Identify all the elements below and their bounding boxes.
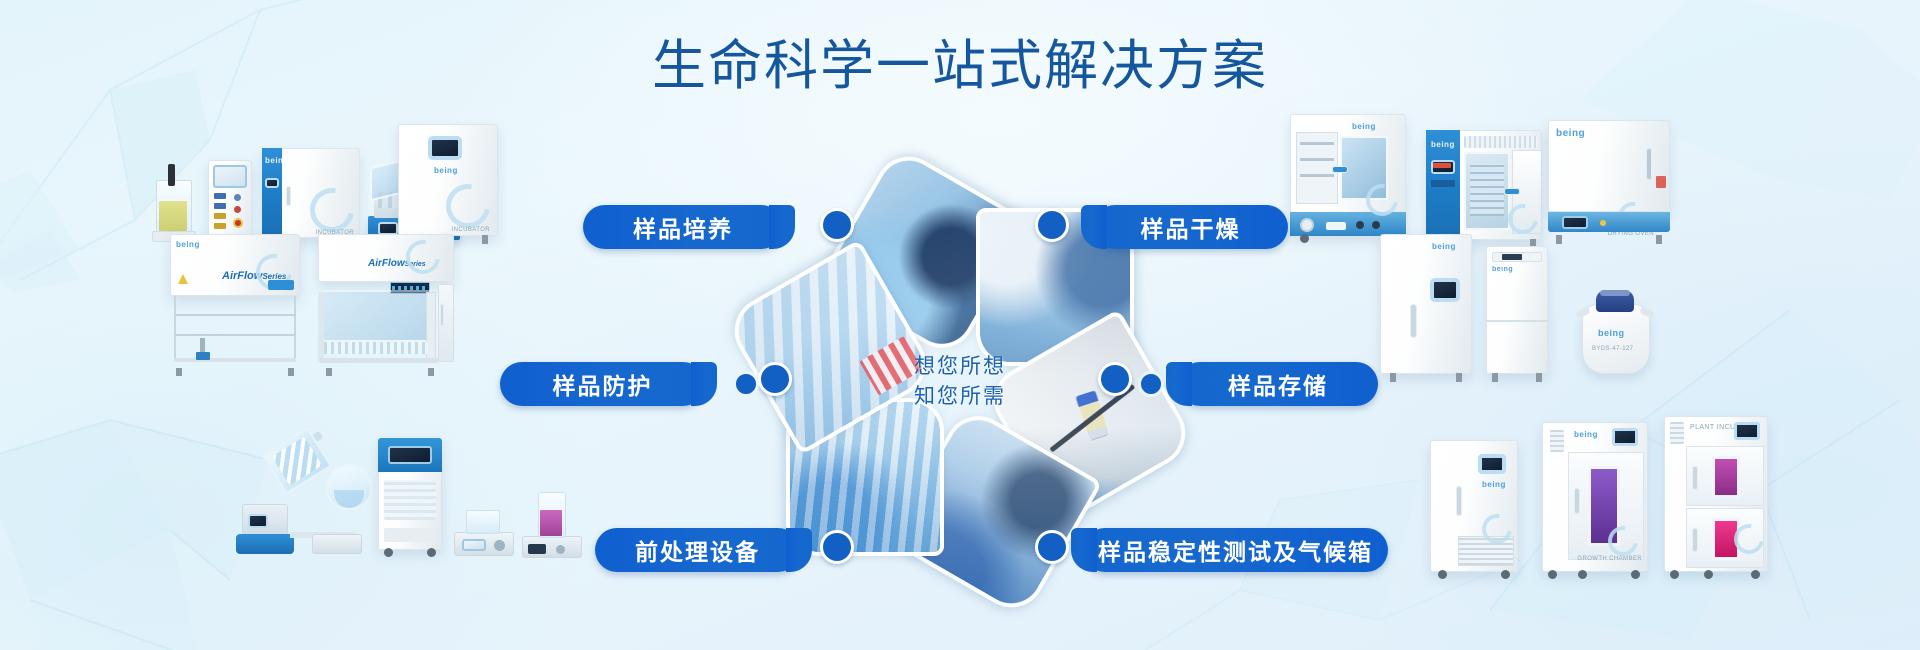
label-sample-storage-text: 样品存储 [1198, 367, 1358, 401]
label-sample-drying[interactable]: 样品干燥 [1093, 205, 1288, 249]
magnetic-stirrer [454, 512, 512, 556]
label-sample-protection-text: 样品防护 [523, 367, 683, 401]
connector-dot-storage [1138, 371, 1164, 397]
hotplate [522, 486, 580, 558]
liquid-nitrogen-tank: being BYDS-47-127 [1576, 282, 1654, 374]
center-slogan-line1: 想您所想 [914, 352, 1006, 382]
drying-cluster: being being being [1290, 110, 1690, 240]
high-temp-oven: being DRYING OVEN [1548, 120, 1670, 236]
pretreatment-cluster [230, 400, 620, 560]
vacuum-drying-oven: being [1290, 114, 1406, 236]
ring-dot-drying [1035, 208, 1069, 242]
central-petal-wheel: 想您所想 知您所需 [782, 196, 1138, 568]
ln2-model-label: BYDS-47-127 [1592, 346, 1633, 352]
protection-cluster: being AirFlowSeries AirFlowSeries [170, 228, 500, 368]
storage-cluster: being being being BYDS-47-127 [1380, 228, 1740, 374]
label-sample-drying-text: 样品干燥 [1111, 210, 1271, 244]
label-pretreatment-equipment-text: 前处理设备 [605, 533, 790, 567]
connector-dot-protection [733, 371, 759, 397]
ring-dot-stability [1035, 530, 1069, 564]
plant-growth-chamber: PLANT INCUBATOR [1664, 416, 1768, 572]
label-stability-test-climate-chamber[interactable]: 样品稳定性测试及气候箱 [1083, 528, 1388, 572]
ultra-low-freezer: being [1380, 234, 1472, 374]
co2-incubator: being INCUBATOR [262, 148, 360, 238]
center-slogan: 想您所想 知您所需 [914, 352, 1006, 412]
label-sample-cultivation-text: 样品培养 [603, 210, 763, 244]
label-stability-test-climate-chamber-text: 样品稳定性测试及气候箱 [1068, 533, 1403, 567]
label-sample-protection[interactable]: 样品防护 [500, 362, 705, 406]
large-incubator: being INCUBATOR [398, 124, 498, 236]
stability-chamber: being [1430, 440, 1518, 572]
lab-refrigerator: being [1486, 246, 1548, 374]
laminar-flow-hood: being AirFlowSeries [170, 234, 300, 368]
illuminated-incubator: being GROWTH CHAMBER [1542, 422, 1648, 572]
chiller-unit [378, 438, 442, 550]
label-pretreatment-equipment[interactable]: 前处理设备 [595, 528, 800, 572]
center-slogan-line2: 知您所需 [914, 382, 1006, 412]
ring-dot-cultivation [820, 208, 854, 242]
biosafety-cabinet: AirFlowSeries [318, 234, 454, 368]
label-sample-cultivation[interactable]: 样品培养 [583, 205, 783, 249]
cultivation-cluster: being INCUBATOR being INCUBATOR [150, 120, 570, 242]
page-title: 生命科学一站式解决方案 [0, 38, 1920, 95]
ring-dot-protection [758, 362, 792, 396]
ring-dot-pretreatment [820, 530, 854, 564]
forced-air-oven: being [1426, 130, 1542, 240]
stability-cluster: being being GROWTH CHAMBER PLANT INCUBAT… [1430, 398, 1790, 578]
banner-stage: 生命科学一站式解决方案 being [0, 0, 1920, 650]
label-sample-storage[interactable]: 样品存储 [1178, 362, 1378, 406]
rotary-evaporator [230, 404, 380, 554]
ring-dot-storage [1098, 362, 1132, 396]
